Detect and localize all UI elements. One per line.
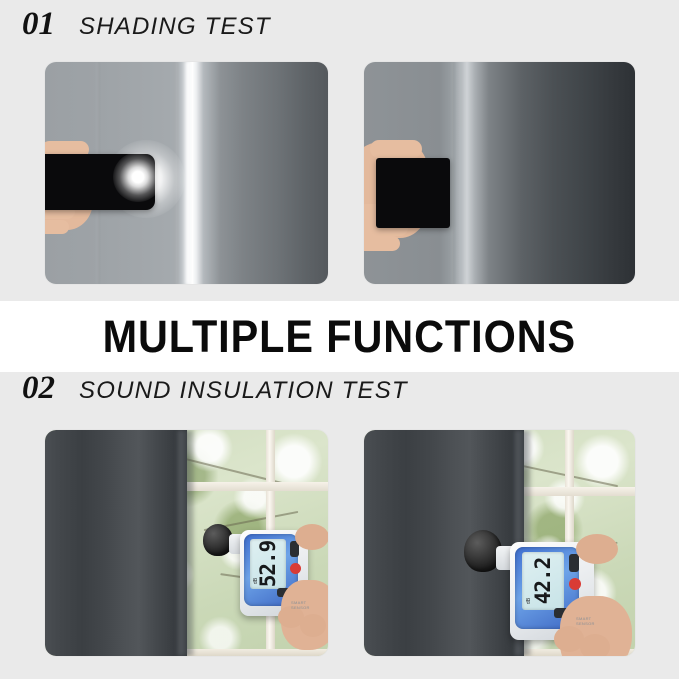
section-02-number: 02 [22,372,55,405]
meter-lcd: 42.2 dB [522,552,564,610]
meter-reading: 52.9 [256,541,280,588]
photo-shading-flashlight-on [45,62,328,284]
section-01-title: SHADING TEST [79,15,271,39]
meter-unit-label: dB [526,598,532,604]
finger [300,614,326,637]
finger [580,634,610,656]
finger [45,220,69,234]
meter-button-function[interactable] [569,554,579,572]
curtain-fold [460,62,462,284]
section-01-number: 01 [22,8,55,41]
meter-reading: 42.2 [531,558,555,605]
photo-sound-meter-window: 52.9 dB SMART SENSOR [45,430,328,656]
photo-2-content [364,62,635,284]
light-gap-streak [184,62,193,284]
banner-title: MULTIPLE FUNCTIONS [103,311,576,363]
banner: MULTIPLE FUNCTIONS [0,301,679,372]
flashlight-hotspot [113,152,163,202]
photo-shading-flashlight-off [364,62,635,284]
section-02-header: 02 SOUND INSULATION TEST [0,372,408,428]
meter-brand-mark: SMART SENSOR [291,600,310,610]
meter-button-power[interactable] [290,563,301,574]
meter-unit-label: dB [253,578,259,584]
product-infographic: 01 SHADING TEST [0,0,679,679]
photo-4-content: 42.2 dB SMART SENSOR [364,430,635,656]
section-01-header: 01 SHADING TEST [0,8,271,64]
finger [370,140,422,158]
photo-3-content: 52.9 dB SMART SENSOR [45,430,328,656]
curtain-edge [178,430,194,656]
smartphone [376,158,450,228]
meter-lcd: 52.9 dB [250,539,286,589]
thumb [295,524,328,550]
section-02-title: SOUND INSULATION TEST [79,379,408,403]
meter-button-power[interactable] [569,578,581,590]
curtain-fold [452,62,454,284]
thumb [576,534,618,564]
finger [364,236,400,251]
meter-brand-mark: SMART SENSOR [576,616,595,626]
photo-1-content [45,62,328,284]
photo-sound-meter-curtain: 42.2 dB SMART SENSOR [364,430,635,656]
curtain-panel [45,430,187,656]
